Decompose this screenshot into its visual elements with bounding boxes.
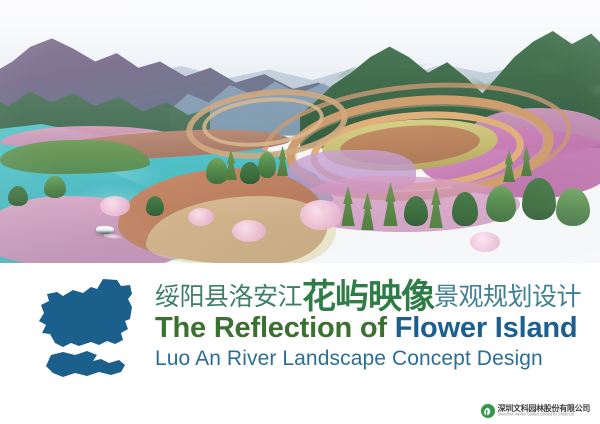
tree-cluster [404, 196, 428, 226]
cherry-blossom-canopy [470, 232, 500, 252]
english-title-part-one: The Reflection of [155, 312, 395, 344]
landscape-rendering-image [0, 0, 600, 263]
chinese-title-suffix: 景观规划设计 [434, 283, 581, 311]
title-band: 绥阳县洛安江花屿映像景观规划设计 The Reflection of Flowe… [0, 263, 600, 424]
poster-root: 绥阳县洛安江花屿映像景观规划设计 The Reflection of Flowe… [0, 0, 600, 424]
tree-cluster [146, 196, 164, 216]
chinese-title-prefix: 绥阳县洛安江 [155, 283, 302, 311]
cherry-blossom-canopy [100, 196, 130, 216]
tree-cluster [206, 158, 228, 184]
cherry-blossom-canopy [300, 200, 342, 230]
tree-cluster [44, 176, 66, 198]
corporate-logo: 深圳文科园林股份有限公司 Shenzhen wenke Garden Limit… [481, 404, 590, 418]
leaf-icon [481, 404, 495, 418]
tree-cluster [486, 186, 516, 222]
english-title: The Reflection of Flower Island [155, 313, 597, 344]
region-map-mark-icon [33, 277, 145, 383]
tree-cluster [8, 186, 28, 206]
cherry-blossom-canopy [188, 208, 214, 226]
chinese-title: 绥阳县洛安江花屿映像景观规划设计 [155, 277, 597, 311]
chinese-title-main: 花屿映像 [302, 278, 434, 316]
english-title-part-two: Flower Island [395, 312, 578, 344]
tree-cluster [556, 188, 590, 226]
tree-cluster [258, 152, 276, 178]
title-text-block: 绥阳县洛安江花屿映像景观规划设计 The Reflection of Flowe… [155, 277, 597, 370]
english-subtitle: Luo An River Landscape Concept Design [155, 347, 597, 370]
corporate-logo-text: 深圳文科园林股份有限公司 Shenzhen wenke Garden Limit… [498, 405, 590, 417]
cherry-blossom-canopy [232, 220, 266, 242]
company-name-en: Shenzhen wenke Garden Limited by Share L… [498, 413, 590, 417]
left-green-bank [0, 140, 150, 174]
tree-cluster [240, 162, 260, 184]
